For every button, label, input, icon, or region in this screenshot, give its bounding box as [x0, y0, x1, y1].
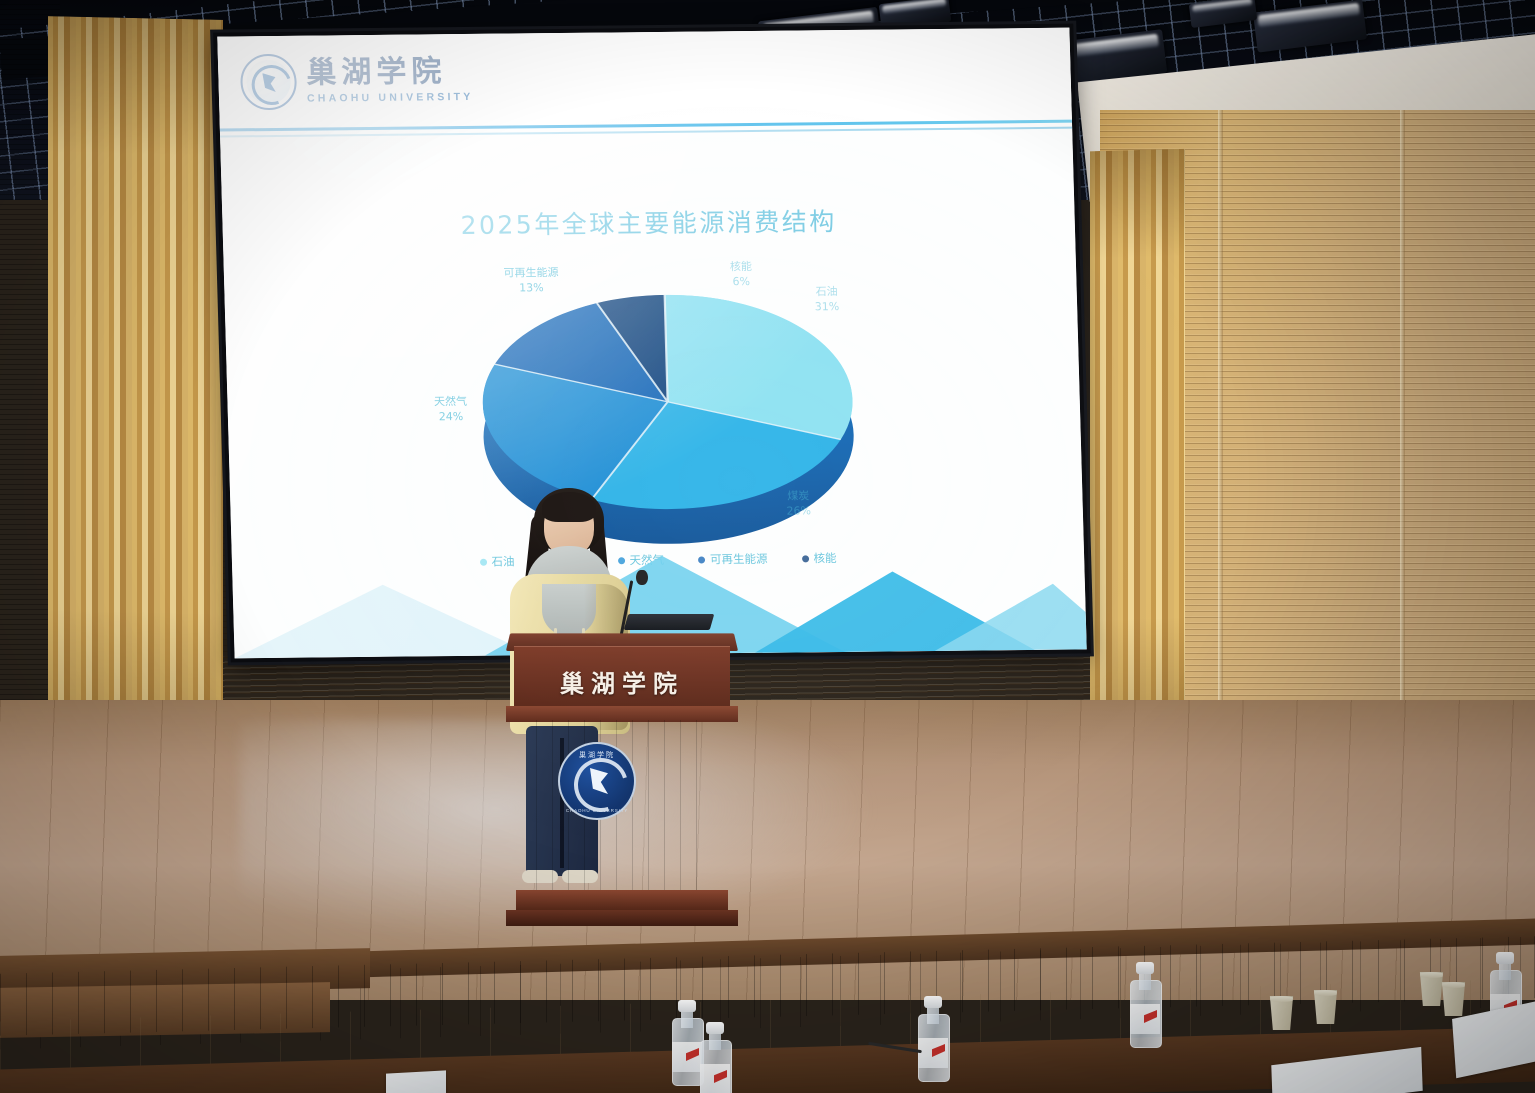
- document-sheet-icon: [386, 1070, 446, 1093]
- crest-text-en: CHAOHU UNIVERSITY: [560, 808, 634, 813]
- stage-curtain-left: [48, 16, 223, 780]
- hair-fringe: [542, 492, 596, 522]
- pie-label-coal-pct: 26%: [786, 504, 811, 517]
- curtain-shading: [48, 16, 223, 780]
- projection-screen-frame: 巢湖学院 CHAOHU UNIVERSITY 2025年全球主要能源消费结构: [213, 24, 1091, 663]
- water-bottle-icon: [918, 996, 948, 1082]
- pie-label-oil-name: 石油: [815, 285, 837, 298]
- pie-label-nuclear-pct: 6%: [732, 275, 750, 288]
- wall-seam: [1218, 110, 1223, 750]
- pie-label-oil: 石油 31%: [791, 285, 862, 315]
- pie-chart-top: [480, 293, 856, 512]
- pie-label-nuclear-name: 核能: [730, 260, 752, 273]
- pie-slices: [480, 293, 856, 512]
- laptop-icon: [624, 614, 715, 630]
- pie-label-nuclear: 核能 6%: [706, 260, 777, 290]
- pie-label-renewable-pct: 13%: [519, 281, 544, 294]
- water-bottle-icon: [1130, 962, 1160, 1048]
- wall-seam: [1400, 110, 1405, 750]
- stage-curtain-right: [1090, 149, 1185, 751]
- pie-label-coal-name: 煤炭: [787, 489, 809, 502]
- brand-name-en: CHAOHU UNIVERSITY: [307, 92, 474, 104]
- slide-title: 2025年全球主要能源消费结构: [222, 200, 1075, 245]
- brand-name-cn: 巢湖学院: [306, 57, 473, 89]
- pie-label-gas-name: 天然气: [434, 395, 467, 408]
- pie-label-gas: 天然气 24%: [410, 395, 491, 426]
- pie-label-coal: 煤炭 26%: [763, 489, 834, 519]
- water-bottle-icon: [672, 1000, 702, 1086]
- pie-label-renewable: 可再生能源 13%: [476, 266, 587, 297]
- slide-brand: 巢湖学院 CHAOHU UNIVERSITY: [240, 52, 474, 110]
- chaohu-university-logo-icon: [240, 54, 298, 111]
- pie-label-gas-pct: 24%: [439, 410, 464, 423]
- crest-text-cn: 巢湖学院: [560, 750, 634, 760]
- presentation-slide: 巢湖学院 CHAOHU UNIVERSITY 2025年全球主要能源消费结构: [217, 28, 1086, 659]
- auditorium-scene: 巢湖学院 CHAOHU UNIVERSITY 2025年全球主要能源消费结构: [0, 0, 1535, 1093]
- lectern-name-plate: 巢湖学院: [514, 664, 730, 699]
- water-bottle-icon: [700, 1022, 730, 1093]
- microphone-icon: [636, 570, 648, 585]
- lectern[interactable]: 巢湖学院 巢湖学院 CHAOHU UNIVERSITY: [506, 632, 738, 932]
- pie-chart-body: [480, 293, 856, 512]
- pie-label-renewable-name: 可再生能源: [503, 266, 558, 280]
- curtain-shading: [1090, 149, 1185, 751]
- university-crest-icon: 巢湖学院 CHAOHU UNIVERSITY: [558, 742, 636, 820]
- lectern-front-panel: 巢湖学院: [514, 646, 730, 708]
- lectern-plinth: [506, 910, 738, 926]
- pie-label-oil-pct: 31%: [815, 300, 840, 313]
- projection-screen[interactable]: 巢湖学院 CHAOHU UNIVERSITY 2025年全球主要能源消费结构: [217, 28, 1086, 659]
